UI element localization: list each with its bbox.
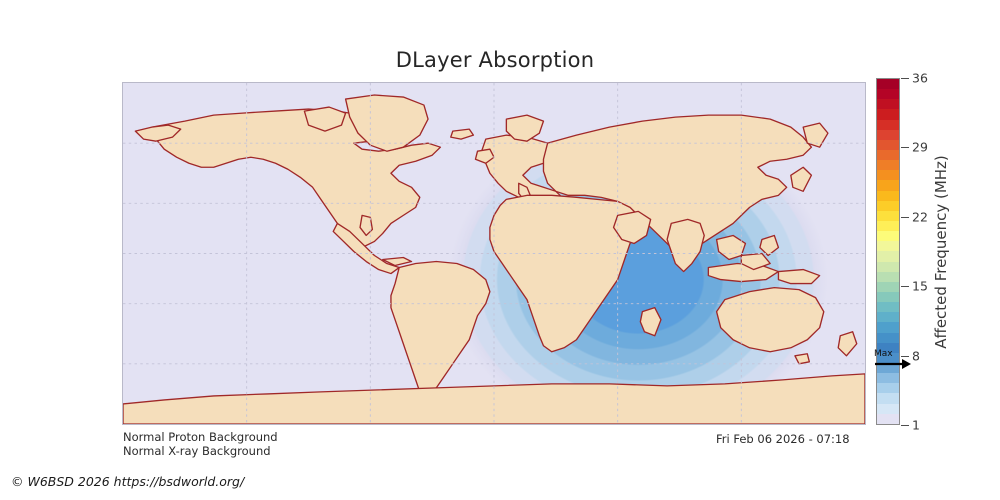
colorbar-tick [901, 286, 909, 287]
colorbar-axis-label: Affected Frequency (MHz) [930, 78, 952, 425]
colorbar-segment [877, 79, 899, 89]
colorbar-tick-label: 36 [912, 71, 928, 86]
colorbar-segment [877, 150, 899, 160]
copyright-credit: © W6BSD 2026 https://bsdworld.org/ [11, 474, 244, 489]
colorbar-segment [877, 140, 899, 150]
colorbar-segment [877, 99, 899, 109]
world-map[interactable] [122, 82, 866, 425]
colorbar-tick-label: 8 [912, 348, 920, 363]
colorbar-segment [877, 312, 899, 322]
colorbar-segment [877, 404, 899, 414]
colorbar-segment [877, 211, 899, 221]
colorbar-segment [877, 130, 899, 140]
colorbar-segment [877, 282, 899, 292]
colorbar-segment [877, 302, 899, 312]
colorbar-segment [877, 393, 899, 403]
colorbar-segment [877, 89, 899, 99]
colorbar-segment [877, 180, 899, 190]
colorbar-segment [877, 251, 899, 261]
colorbar-segment [877, 160, 899, 170]
colorbar-segment [877, 414, 899, 424]
colorbar-segment [877, 241, 899, 251]
max-marker-icon [872, 350, 912, 376]
colorbar-segment [877, 201, 899, 211]
colorbar-segment [877, 292, 899, 302]
colorbar-tick-label: 15 [912, 279, 928, 294]
colorbar-tick [901, 147, 909, 148]
colorbar[interactable]: 3629221581 Max [876, 78, 900, 425]
colorbar-tick-label: 1 [912, 418, 920, 433]
colorbar-tick-label: 22 [912, 209, 928, 224]
colorbar-segment [877, 383, 899, 393]
colorbar-tick-label: 29 [912, 140, 928, 155]
page-title: DLayer Absorption [0, 48, 990, 72]
colorbar-tick [901, 425, 909, 426]
dlayer-absorption-page: DLayer Absorption [0, 0, 1000, 500]
colorbar-segment [877, 272, 899, 282]
colorbar-segment [877, 221, 899, 231]
timestamp-label: Fri Feb 06 2026 - 07:18 [716, 432, 850, 446]
colorbar-segment [877, 109, 899, 119]
colorbar-tick [901, 78, 909, 79]
colorbar-segment [877, 191, 899, 201]
colorbar-segment [877, 231, 899, 241]
colorbar-segment [877, 170, 899, 180]
colorbar-segment [877, 262, 899, 272]
colorbar-segment [877, 333, 899, 343]
proton-background-note: Normal Proton Background [123, 430, 278, 444]
colorbar-segment [877, 322, 899, 332]
colorbar-segment [877, 120, 899, 130]
colorbar-tick [901, 217, 909, 218]
colorbar-axis-label-text: Affected Frequency (MHz) [932, 155, 950, 349]
xray-background-note: Normal X-ray Background [123, 444, 271, 458]
map-canvas [123, 83, 865, 424]
footer-divider [0, 492, 1000, 493]
